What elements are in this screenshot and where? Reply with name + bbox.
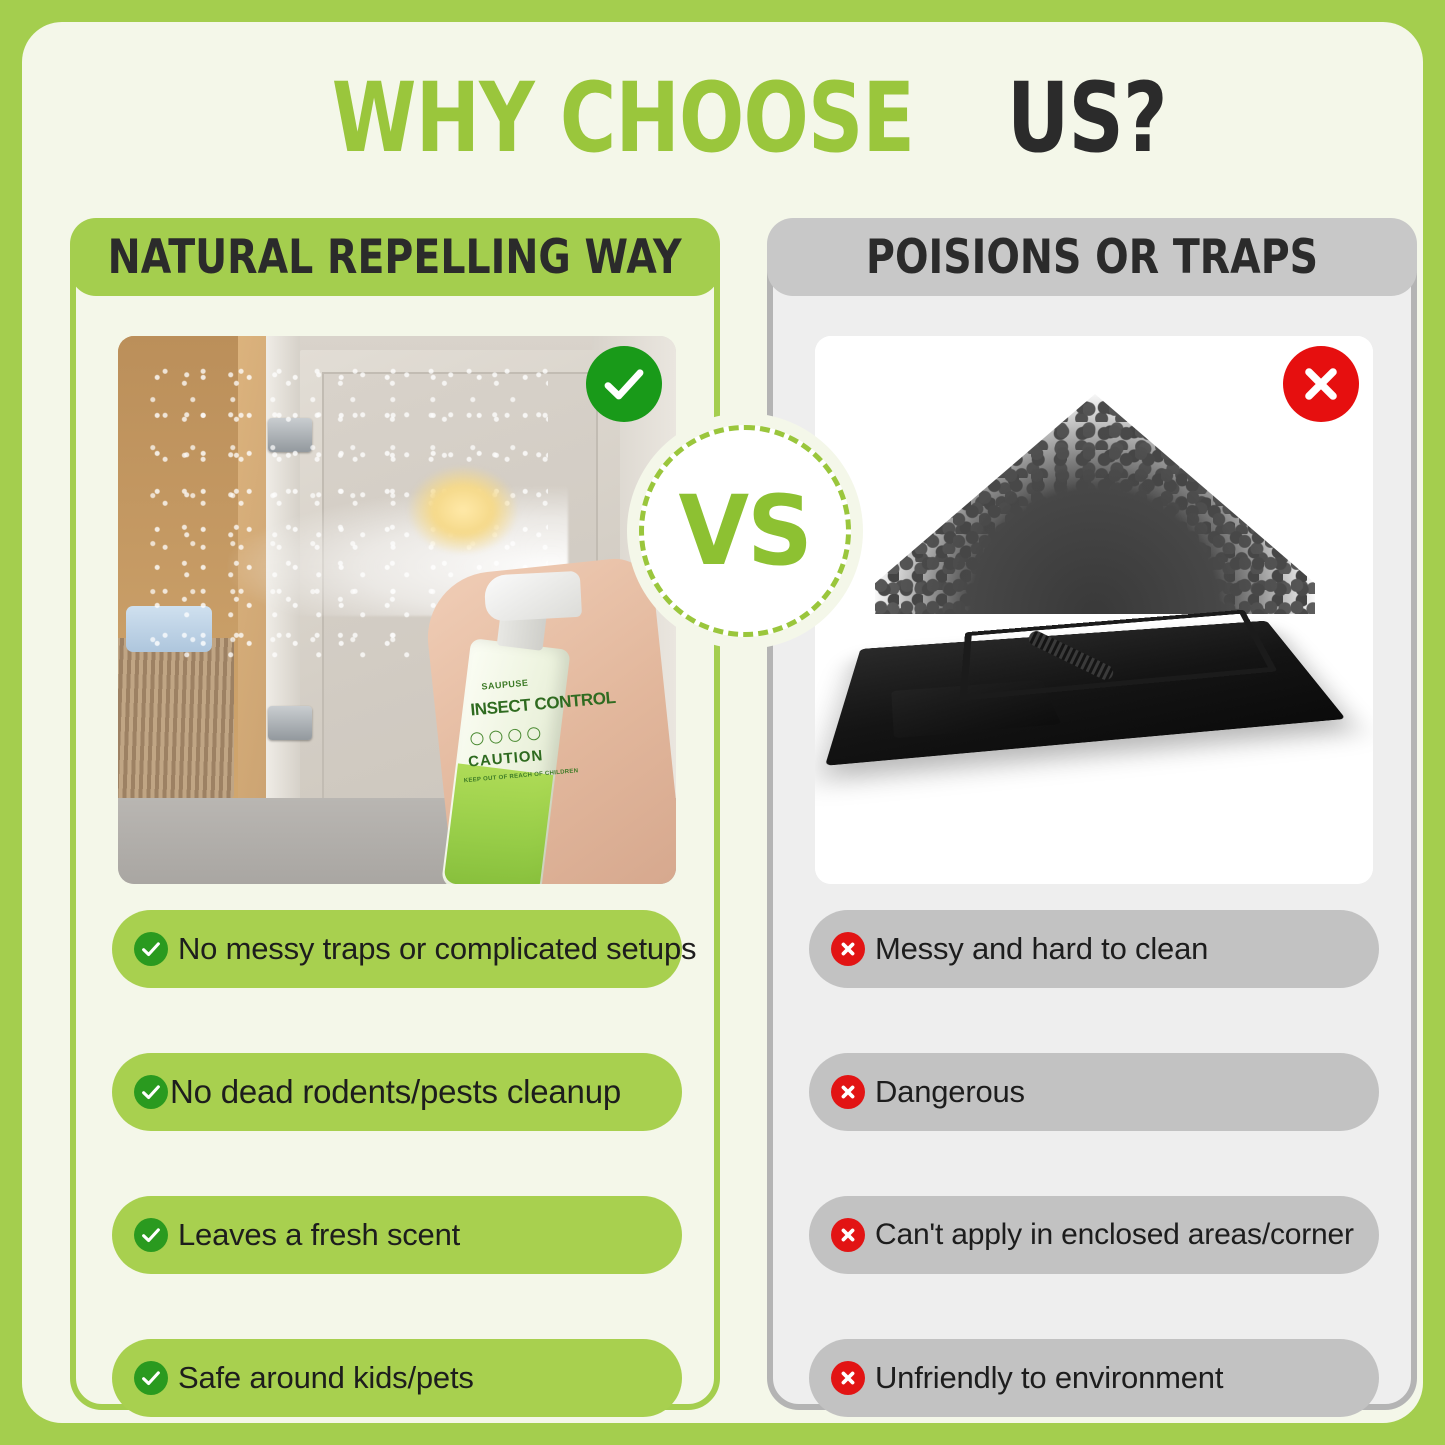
list-item-label: Leaves a fresh scent: [178, 1217, 460, 1253]
left-panel-heading-text: NATURAL REPELLING WAY: [108, 230, 682, 285]
pest-icon-4: [527, 727, 541, 741]
check-circle-icon: [134, 932, 168, 966]
check-circle-icon: [134, 1218, 168, 1252]
spray-glow: [408, 466, 518, 554]
cross-circle-icon: [831, 932, 865, 966]
cross-circle-icon: [831, 1218, 865, 1252]
cross-circle-icon: [831, 1075, 865, 1109]
infographic-canvas: WHY CHOOSE US? NATURAL REPELLING WAY: [22, 22, 1423, 1423]
versus-badge: VS: [639, 425, 851, 637]
list-item[interactable]: Leaves a fresh scent: [112, 1196, 682, 1274]
infographic-page: WHY CHOOSE US? NATURAL REPELLING WAY: [0, 0, 1445, 1445]
panel-poisons-or-traps: POISIONS OR TRAPS Messy and hard: [767, 218, 1417, 1410]
list-item-label: No messy traps or complicated setups: [178, 931, 696, 967]
page-title-dark: US?: [1007, 70, 1167, 166]
list-item-label: Safe around kids/pets: [178, 1360, 474, 1396]
check-circle-icon: [134, 1361, 168, 1395]
list-item[interactable]: No messy traps or complicated setups: [112, 910, 682, 988]
list-item[interactable]: No dead rodents/pests cleanup: [112, 1053, 682, 1131]
right-feature-list: Messy and hard to clean Dangerous Can't …: [809, 910, 1379, 1417]
bottle-label-green-band: [443, 763, 553, 884]
list-item[interactable]: Safe around kids/pets: [112, 1339, 682, 1417]
bottle-trigger-head: [484, 571, 582, 622]
list-item-label: Can't apply in enclosed areas/corner: [875, 1218, 1354, 1252]
cross-circle-icon: [831, 1361, 865, 1395]
pest-icon-2: [489, 730, 503, 744]
cabinet-hinge-bottom: [268, 706, 312, 740]
panel-natural-repelling: NATURAL REPELLING WAY: [70, 218, 720, 1410]
check-mark-badge-icon: [586, 346, 662, 422]
left-product-photo: SAUPUSE INSECT CONTROL CAUTION KEEP OUT …: [118, 336, 676, 884]
list-item-label: Messy and hard to clean: [875, 931, 1208, 967]
list-item[interactable]: Dangerous: [809, 1053, 1379, 1131]
list-item[interactable]: Can't apply in enclosed areas/corner: [809, 1196, 1379, 1274]
page-title-green: WHY CHOOSE: [331, 70, 913, 166]
check-circle-icon: [134, 1075, 168, 1109]
versus-label: VS: [679, 475, 811, 587]
list-item-label: Dangerous: [875, 1074, 1025, 1110]
cross-mark-badge-icon: [1283, 346, 1359, 422]
list-item-label: No dead rodents/pests cleanup: [170, 1073, 621, 1111]
pest-icon-3: [508, 728, 522, 742]
right-product-photo: [815, 336, 1373, 884]
left-feature-list: No messy traps or complicated setups No …: [112, 910, 682, 1417]
left-panel-heading-banner: NATURAL REPELLING WAY: [70, 218, 720, 296]
list-item-label: Unfriendly to environment: [875, 1360, 1223, 1396]
list-item[interactable]: Messy and hard to clean: [809, 910, 1379, 988]
list-item[interactable]: Unfriendly to environment: [809, 1339, 1379, 1417]
right-panel-heading-banner: POISIONS OR TRAPS: [767, 218, 1417, 296]
page-title: WHY CHOOSE US?: [22, 70, 1423, 166]
right-panel-heading-text: POISIONS OR TRAPS: [866, 230, 1318, 285]
pest-icon-1: [470, 732, 484, 746]
